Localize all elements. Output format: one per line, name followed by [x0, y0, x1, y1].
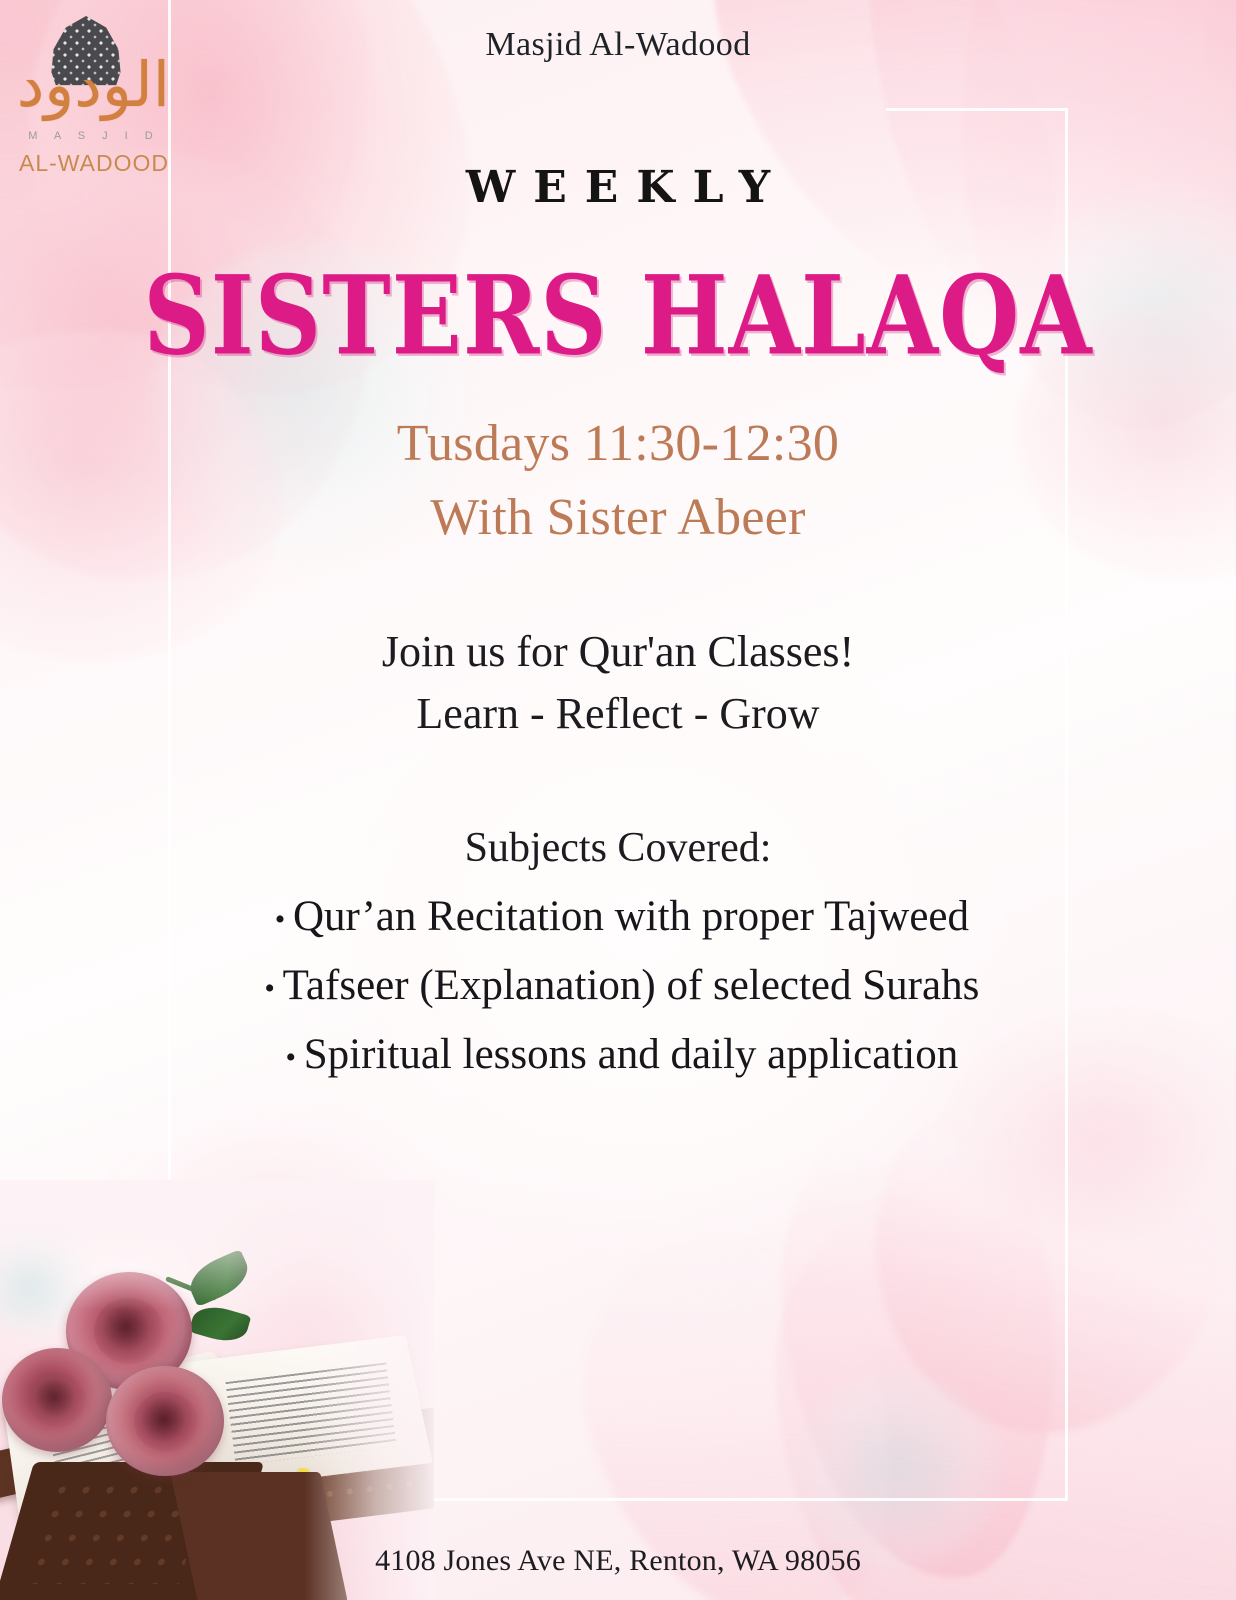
subject-item-label: Tafseer (Explanation) of selected Surahs — [283, 962, 980, 1009]
page-title: SISTERS HALAQA — [0, 252, 1236, 379]
rose-center — [106, 1366, 224, 1476]
petal-bottom-right-4 — [817, 1046, 1236, 1483]
petal-bottom-right-2 — [766, 1099, 1076, 1591]
petal-bottom-right-3 — [541, 1195, 940, 1600]
flyer-poster: الودود M A S J I D AL-WADOOD Masjid Al-W… — [0, 0, 1236, 1600]
address-text: 4108 Jones Ave NE, Renton, WA 98056 — [0, 1544, 1236, 1578]
petal-bottom-right-teal-accent — [786, 1370, 1006, 1570]
subjects-heading: Subjects Covered: — [0, 824, 1236, 872]
instructor-text: With Sister Abeer — [0, 488, 1236, 547]
frame-line-top — [886, 108, 1068, 111]
logo-line-masjid: M A S J I D — [14, 130, 174, 142]
subjects-list: •Qur’an Recitation with proper Tajweed•T… — [168, 884, 1068, 1091]
petal-bottom-right-1 — [776, 1160, 1236, 1600]
organization-name: Masjid Al-Wadood — [0, 26, 1236, 64]
subject-item-label: Spiritual lessons and daily application — [304, 1031, 958, 1078]
bullet-icon: • — [257, 956, 283, 1022]
motto-text: Learn - Reflect - Grow — [0, 688, 1236, 739]
bullet-icon: • — [278, 1025, 304, 1091]
subject-item-label: Qur’an Recitation with proper Tajweed — [293, 893, 969, 940]
eyebrow-weekly: WEEKLY — [0, 162, 1236, 213]
schedule-text: Tusdays 11:30-12:30 — [0, 414, 1236, 473]
subject-item: •Tafseer (Explanation) of selected Surah… — [168, 953, 1068, 1022]
open-quran-on-rehal-with-roses-photo — [0, 1180, 434, 1600]
photo-fade-right — [304, 1180, 434, 1600]
invitation-text: Join us for Qur'an Classes! — [0, 626, 1236, 677]
bullet-icon: • — [267, 887, 293, 953]
subject-item: •Qur’an Recitation with proper Tajweed — [168, 884, 1068, 953]
petal-top-right-1 — [894, 0, 1236, 468]
rose-left — [2, 1348, 112, 1452]
subject-item: •Spiritual lessons and daily application — [168, 1022, 1068, 1091]
